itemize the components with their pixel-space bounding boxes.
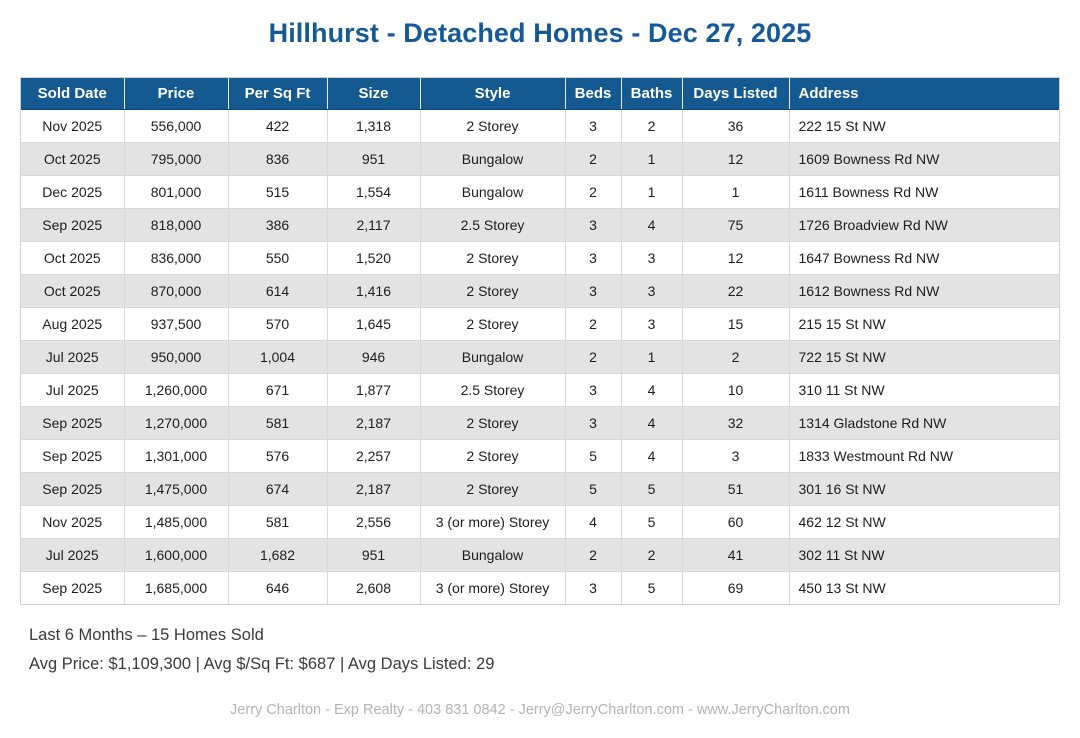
- table-cell: 1611 Bowness Rd NW: [789, 176, 1059, 209]
- table-cell: 2 Storey: [420, 473, 565, 506]
- table-cell: 1726 Broadview Rd NW: [789, 209, 1059, 242]
- table-cell: Bungalow: [420, 539, 565, 572]
- table-cell: 310 11 St NW: [789, 374, 1059, 407]
- table-cell: 2,187: [327, 473, 420, 506]
- table-row: Sep 20251,301,0005762,2572 Storey5431833…: [21, 440, 1059, 473]
- column-header-size[interactable]: Size: [327, 78, 420, 110]
- table-cell: 4: [621, 407, 682, 440]
- sales-table-container: Sold Date Price Per Sq Ft Size Style Bed…: [20, 77, 1060, 605]
- table-cell: 22: [682, 275, 789, 308]
- table-cell: 1,645: [327, 308, 420, 341]
- table-cell: 2 Storey: [420, 275, 565, 308]
- table-cell: 1647 Bowness Rd NW: [789, 242, 1059, 275]
- table-cell: Sep 2025: [21, 440, 124, 473]
- table-cell: 722 15 St NW: [789, 341, 1059, 374]
- table-cell: 1,600,000: [124, 539, 228, 572]
- table-cell: 3: [565, 572, 621, 605]
- table-cell: 12: [682, 242, 789, 275]
- table-row: Sep 20251,475,0006742,1872 Storey5551301…: [21, 473, 1059, 506]
- table-cell: 3: [621, 308, 682, 341]
- table-cell: 1609 Bowness Rd NW: [789, 143, 1059, 176]
- table-cell: 1,004: [228, 341, 327, 374]
- column-header-beds[interactable]: Beds: [565, 78, 621, 110]
- table-cell: 10: [682, 374, 789, 407]
- table-cell: 801,000: [124, 176, 228, 209]
- summary-line-averages: Avg Price: $1,109,300 | Avg $/Sq Ft: $68…: [29, 650, 1080, 679]
- table-cell: 870,000: [124, 275, 228, 308]
- table-cell: 3: [565, 407, 621, 440]
- table-cell: Jul 2025: [21, 341, 124, 374]
- table-cell: 570: [228, 308, 327, 341]
- table-cell: 450 13 St NW: [789, 572, 1059, 605]
- table-cell: 3 (or more) Storey: [420, 506, 565, 539]
- table-cell: 1,270,000: [124, 407, 228, 440]
- table-cell: 671: [228, 374, 327, 407]
- sales-table: Sold Date Price Per Sq Ft Size Style Bed…: [21, 78, 1059, 604]
- table-cell: 2 Storey: [420, 308, 565, 341]
- table-cell: Dec 2025: [21, 176, 124, 209]
- table-cell: 5: [565, 473, 621, 506]
- table-row: Aug 2025937,5005701,6452 Storey2315215 1…: [21, 308, 1059, 341]
- table-cell: 3 (or more) Storey: [420, 572, 565, 605]
- table-cell: Sep 2025: [21, 572, 124, 605]
- table-cell: 4: [621, 374, 682, 407]
- table-cell: 41: [682, 539, 789, 572]
- table-cell: Sep 2025: [21, 473, 124, 506]
- page-title: Hillhurst - Detached Homes - Dec 27, 202…: [0, 0, 1080, 49]
- table-cell: 2,117: [327, 209, 420, 242]
- table-cell: 3: [565, 374, 621, 407]
- table-cell: 2 Storey: [420, 242, 565, 275]
- table-cell: 302 11 St NW: [789, 539, 1059, 572]
- footer-contact-line: Jerry Charlton - Exp Realty - 403 831 08…: [0, 702, 1080, 718]
- table-cell: 550: [228, 242, 327, 275]
- table-cell: 2: [565, 341, 621, 374]
- table-cell: 1,877: [327, 374, 420, 407]
- table-cell: 2,187: [327, 407, 420, 440]
- table-cell: Oct 2025: [21, 143, 124, 176]
- table-cell: 4: [621, 440, 682, 473]
- table-cell: Bungalow: [420, 341, 565, 374]
- table-cell: 1612 Bowness Rd NW: [789, 275, 1059, 308]
- table-cell: 3: [682, 440, 789, 473]
- table-cell: 4: [565, 506, 621, 539]
- column-header-price[interactable]: Price: [124, 78, 228, 110]
- table-cell: 515: [228, 176, 327, 209]
- table-cell: 2.5 Storey: [420, 209, 565, 242]
- summary-line-homes-sold: Last 6 Months – 15 Homes Sold: [29, 621, 1080, 650]
- table-row: Sep 20251,685,0006462,6083 (or more) Sto…: [21, 572, 1059, 605]
- table-cell: 836,000: [124, 242, 228, 275]
- table-cell: 1,301,000: [124, 440, 228, 473]
- table-cell: 301 16 St NW: [789, 473, 1059, 506]
- table-row: Jul 2025950,0001,004946Bungalow212722 15…: [21, 341, 1059, 374]
- table-row: Sep 20251,270,0005812,1872 Storey3432131…: [21, 407, 1059, 440]
- table-cell: 3: [621, 275, 682, 308]
- table-cell: 951: [327, 143, 420, 176]
- table-cell: 1314 Gladstone Rd NW: [789, 407, 1059, 440]
- table-cell: 2,257: [327, 440, 420, 473]
- table-cell: 674: [228, 473, 327, 506]
- table-cell: 2,608: [327, 572, 420, 605]
- table-cell: 1,260,000: [124, 374, 228, 407]
- table-cell: 951: [327, 539, 420, 572]
- table-cell: 2: [621, 539, 682, 572]
- table-cell: 15: [682, 308, 789, 341]
- table-cell: 1,475,000: [124, 473, 228, 506]
- table-cell: Oct 2025: [21, 275, 124, 308]
- table-cell: 4: [621, 209, 682, 242]
- table-cell: 581: [228, 407, 327, 440]
- table-cell: 614: [228, 275, 327, 308]
- table-cell: 12: [682, 143, 789, 176]
- table-cell: 2: [565, 308, 621, 341]
- table-cell: Bungalow: [420, 143, 565, 176]
- table-cell: Jul 2025: [21, 539, 124, 572]
- table-row: Oct 2025836,0005501,5202 Storey33121647 …: [21, 242, 1059, 275]
- table-cell: 2: [682, 341, 789, 374]
- table-cell: 581: [228, 506, 327, 539]
- table-cell: 1: [621, 143, 682, 176]
- table-cell: 3: [621, 242, 682, 275]
- table-cell: 3: [565, 110, 621, 143]
- table-cell: 5: [565, 440, 621, 473]
- table-cell: 2: [621, 110, 682, 143]
- table-cell: Aug 2025: [21, 308, 124, 341]
- column-header-address[interactable]: Address: [789, 78, 1059, 110]
- table-cell: 946: [327, 341, 420, 374]
- table-cell: Nov 2025: [21, 110, 124, 143]
- table-row: Jul 20251,260,0006711,8772.5 Storey34103…: [21, 374, 1059, 407]
- table-cell: 5: [621, 572, 682, 605]
- table-cell: 1,520: [327, 242, 420, 275]
- table-cell: 5: [621, 473, 682, 506]
- table-cell: 462 12 St NW: [789, 506, 1059, 539]
- table-row: Dec 2025801,0005151,554Bungalow2111611 B…: [21, 176, 1059, 209]
- table-cell: 1,685,000: [124, 572, 228, 605]
- column-header-per-sq-ft[interactable]: Per Sq Ft: [228, 78, 327, 110]
- table-cell: 1833 Westmount Rd NW: [789, 440, 1059, 473]
- column-header-baths[interactable]: Baths: [621, 78, 682, 110]
- table-cell: 2: [565, 176, 621, 209]
- table-cell: 75: [682, 209, 789, 242]
- summary-block: Last 6 Months – 15 Homes Sold Avg Price:…: [29, 621, 1080, 679]
- table-cell: 422: [228, 110, 327, 143]
- table-cell: 3: [565, 242, 621, 275]
- table-cell: 2: [565, 143, 621, 176]
- table-cell: 1,318: [327, 110, 420, 143]
- table-cell: 2,556: [327, 506, 420, 539]
- table-cell: 3: [565, 275, 621, 308]
- table-cell: 32: [682, 407, 789, 440]
- table-row: Jul 20251,600,0001,682951Bungalow2241302…: [21, 539, 1059, 572]
- table-row: Nov 2025556,0004221,3182 Storey3236222 1…: [21, 110, 1059, 143]
- table-cell: 36: [682, 110, 789, 143]
- table-header-row: Sold Date Price Per Sq Ft Size Style Bed…: [21, 78, 1059, 110]
- table-cell: Nov 2025: [21, 506, 124, 539]
- table-cell: 576: [228, 440, 327, 473]
- table-cell: 2: [565, 539, 621, 572]
- table-cell: 2 Storey: [420, 440, 565, 473]
- table-cell: 1,485,000: [124, 506, 228, 539]
- table-row: Sep 2025818,0003862,1172.5 Storey3475172…: [21, 209, 1059, 242]
- table-cell: Jul 2025: [21, 374, 124, 407]
- table-cell: 1,416: [327, 275, 420, 308]
- table-cell: 1,554: [327, 176, 420, 209]
- table-cell: 1: [621, 176, 682, 209]
- table-cell: 818,000: [124, 209, 228, 242]
- table-cell: Bungalow: [420, 176, 565, 209]
- table-cell: 2 Storey: [420, 110, 565, 143]
- table-cell: 950,000: [124, 341, 228, 374]
- table-cell: 2 Storey: [420, 407, 565, 440]
- table-cell: Sep 2025: [21, 407, 124, 440]
- table-cell: 222 15 St NW: [789, 110, 1059, 143]
- table-cell: 215 15 St NW: [789, 308, 1059, 341]
- table-cell: 3: [565, 209, 621, 242]
- table-cell: 1,682: [228, 539, 327, 572]
- column-header-days-listed[interactable]: Days Listed: [682, 78, 789, 110]
- column-header-sold-date[interactable]: Sold Date: [21, 78, 124, 110]
- table-cell: 1: [621, 341, 682, 374]
- table-cell: 937,500: [124, 308, 228, 341]
- table-row: Nov 20251,485,0005812,5563 (or more) Sto…: [21, 506, 1059, 539]
- table-body: Nov 2025556,0004221,3182 Storey3236222 1…: [21, 110, 1059, 605]
- column-header-style[interactable]: Style: [420, 78, 565, 110]
- table-cell: Sep 2025: [21, 209, 124, 242]
- table-cell: Oct 2025: [21, 242, 124, 275]
- table-cell: 60: [682, 506, 789, 539]
- table-cell: 795,000: [124, 143, 228, 176]
- table-cell: 836: [228, 143, 327, 176]
- table-cell: 69: [682, 572, 789, 605]
- table-header: Sold Date Price Per Sq Ft Size Style Bed…: [21, 78, 1059, 110]
- table-row: Oct 2025795,000836951Bungalow21121609 Bo…: [21, 143, 1059, 176]
- table-cell: 1: [682, 176, 789, 209]
- table-cell: 2.5 Storey: [420, 374, 565, 407]
- table-cell: 386: [228, 209, 327, 242]
- table-row: Oct 2025870,0006141,4162 Storey33221612 …: [21, 275, 1059, 308]
- table-cell: 556,000: [124, 110, 228, 143]
- table-cell: 646: [228, 572, 327, 605]
- table-cell: 51: [682, 473, 789, 506]
- table-cell: 5: [621, 506, 682, 539]
- report-page: Hillhurst - Detached Homes - Dec 27, 202…: [0, 0, 1080, 738]
